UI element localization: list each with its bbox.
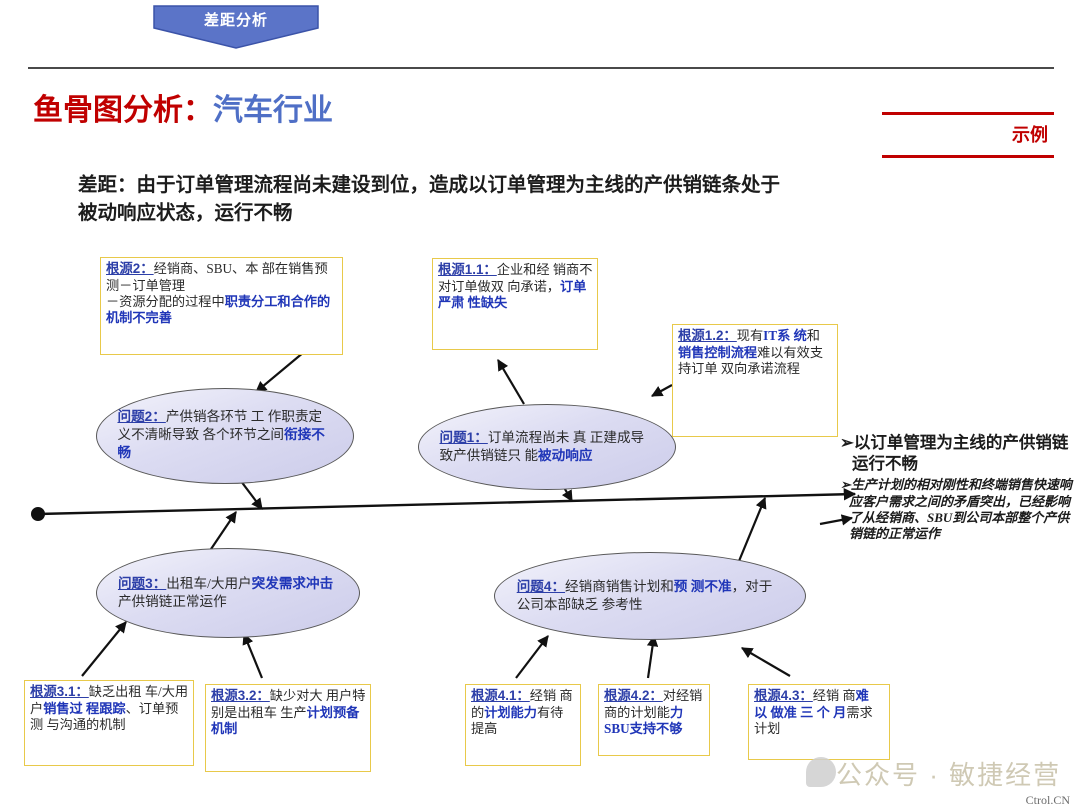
root-cause-genyuan-1-2-seg2-plain: 和: [807, 328, 820, 343]
root-cause-genyuan-3-1-seg1-em: 销售过 程跟踪: [43, 701, 125, 716]
arrow-genyuan42-to-wenti4: [648, 636, 654, 678]
root-cause-genyuan-4-1-head: 根源4.1：: [471, 688, 530, 703]
conclusion-detail-bullet: ➢: [840, 477, 851, 492]
conclusion-detail-text: 生产计划的相对刚性和终端销售快速响应客户需求之间的矛盾突出，已经影响了从经销商、…: [849, 477, 1072, 541]
arrow-genyuan31-to-wenti3: [82, 622, 126, 676]
root-cause-genyuan-2-head: 根源2：: [106, 261, 154, 276]
root-cause-genyuan-4-3-seg1-plain: 经销 商: [813, 688, 856, 703]
root-cause-genyuan-1-1[interactable]: 根源1.1：企业和经 销商不对订单做双 向承诺，订单严肃 性缺失: [432, 258, 598, 350]
root-cause-genyuan-3-1-head: 根源3.1：: [30, 684, 89, 699]
root-cause-genyuan-4-3[interactable]: 根源4.3：经销 商难 以 做准 三 个 月需求计划: [748, 684, 890, 760]
root-cause-genyuan-3-2[interactable]: 根源3.2：缺少对大 用户特别是出租车 生产计划预备机制: [205, 684, 371, 772]
conclusion-block: ➢以订单管理为主线的产供销链运行不畅 ➢生产计划的相对刚性和终端销售快速响应客户…: [840, 432, 1072, 543]
problem-wenti-1-em: 被动响应: [538, 448, 592, 463]
watermark-logo-icon: [806, 757, 836, 787]
problem-wenti-1-head: 问题1：: [439, 430, 487, 445]
arrow-genyuan2-to-wenti2: [256, 352, 304, 392]
root-cause-genyuan-2-body2-plain: －资源分配的过程中: [106, 294, 225, 309]
watermark-credit: Ctrol.CN: [1026, 793, 1070, 808]
root-cause-genyuan-3-1[interactable]: 根源3.1：缺乏出租 车/大用户销售过 程跟踪、订单预测 与沟通的机制: [24, 680, 194, 766]
root-cause-genyuan-4-2-head: 根源4.2：: [604, 688, 663, 703]
root-cause-genyuan-1-1-head: 根源1.1：: [438, 262, 497, 277]
spine-line: [38, 494, 855, 514]
arrow-genyuan32-to-wenti3: [244, 634, 262, 678]
watermark-account: 公众号 · 敏捷经营: [836, 755, 1061, 792]
arrow-genyuan41-to-wenti4: [516, 636, 548, 678]
problem-wenti-3-plain: 出租车/大用户: [166, 576, 251, 591]
conclusion-main: ➢以订单管理为主线的产供销链运行不畅: [840, 432, 1072, 474]
root-cause-genyuan-4-1-seg1-em: 计划能力: [484, 705, 537, 720]
root-cause-genyuan-4-3-head: 根源4.3：: [754, 688, 813, 703]
problem-wenti-3-em: 突发需求冲击: [252, 576, 334, 591]
root-cause-genyuan-1-2-seg1-em: IT系 统: [763, 328, 807, 343]
problem-wenti-3-head: 问题3：: [118, 576, 166, 591]
slide-root: 差距分析 鱼骨图分析：汽车行业 示例 差距：由于订单管理流程尚未建设到位，造成以…: [0, 0, 1080, 810]
root-cause-genyuan-4-1[interactable]: 根源4.1：经销 商的计划能力有待提高: [465, 684, 581, 766]
conclusion-detail: ➢生产计划的相对刚性和终端销售快速响应客户需求之间的矛盾突出，已经影响了从经销商…: [840, 477, 1072, 543]
root-cause-genyuan-1-2[interactable]: 根源1.2：现有IT系 统和销售控制流程难以有效支持订单 双向承诺流程: [672, 324, 838, 437]
root-cause-genyuan-1-2-head: 根源1.2：: [678, 328, 737, 343]
problem-wenti-2-head: 问题2：: [117, 409, 165, 424]
root-cause-genyuan-4-2[interactable]: 根源4.2：对经销商的计划能力SBU支持不够: [598, 684, 710, 756]
arrow-genyuan43-to-wenti4: [742, 648, 790, 676]
problem-wenti-4[interactable]: 问题4：经销商销售计划和预 测不准，对于公司本部缺乏 参考性: [494, 552, 806, 640]
root-cause-genyuan-1-2-seg1-plain: 现有: [737, 328, 763, 343]
root-cause-genyuan-3-2-head: 根源3.2：: [211, 688, 270, 703]
problem-wenti-4-plain: 经销商销售计划和: [565, 579, 674, 594]
root-cause-genyuan-2[interactable]: 根源2：经销商、SBU、本 部在销售预测－订单管理 －资源分配的过程中职责分工和…: [100, 257, 343, 355]
conclusion-main-bullet: ➢: [840, 433, 854, 452]
spine-start-dot: [31, 507, 45, 521]
root-cause-genyuan-1-2-seg2-em: 销售控制流程: [678, 345, 757, 360]
problem-wenti-3-plain2: 产供销链正常运作: [118, 594, 227, 609]
problem-wenti-4-head: 问题4：: [517, 579, 565, 594]
conclusion-main-text: 以订单管理为主线的产供销链运行不畅: [852, 433, 1068, 473]
problem-wenti-4-em: 预 测不准: [674, 579, 732, 594]
arrow-genyuan12-to-wenti1: [652, 385, 672, 396]
arrow-genyuan11-to-wenti1: [498, 360, 524, 404]
problem-wenti-3[interactable]: 问题3：出租车/大用户突发需求冲击产供销链正常运作: [96, 548, 360, 638]
problem-wenti-2[interactable]: 问题2：产供销各环节 工 作职责定义不清晰导致 各个环节之间衔接不畅: [96, 388, 354, 484]
problem-wenti-1[interactable]: 问题1：订单流程尚未 真 正建成导致产供销链只 能被动响应: [418, 404, 676, 490]
